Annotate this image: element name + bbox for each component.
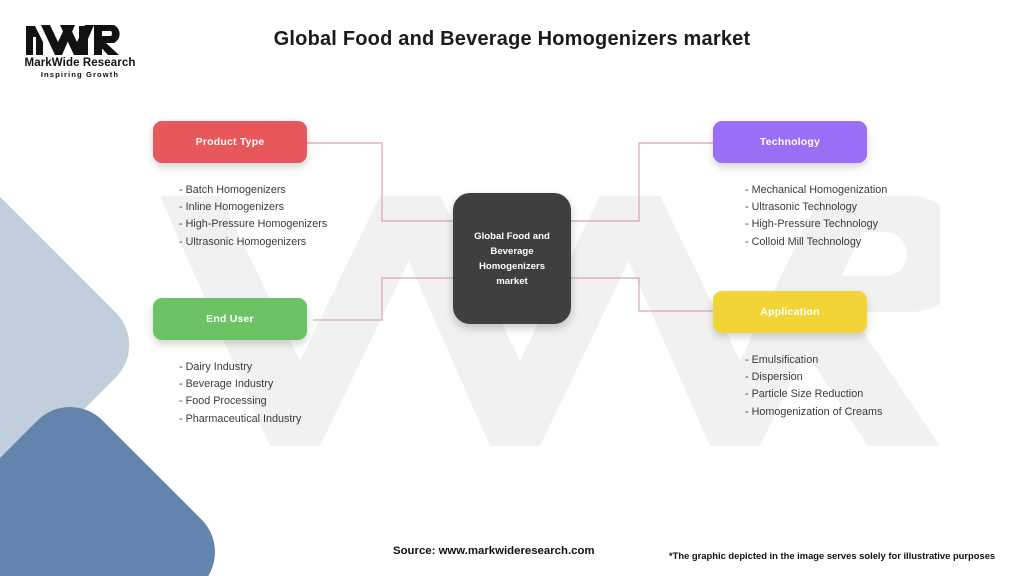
source-text: Source: www.markwideresearch.com — [393, 545, 595, 557]
branch-list-technology: - Mechanical Homogenization - Ultrasonic… — [713, 182, 887, 251]
branch-list-end-user: - Dairy Industry - Beverage Industry - F… — [153, 359, 307, 428]
logo-tagline: Inspiring Growth — [16, 70, 144, 79]
branch-label-end-user: End User — [206, 313, 254, 325]
slide-canvas: MarkWide Research Inspiring Growth Globa… — [0, 0, 1024, 576]
branch-header-technology[interactable]: Technology — [713, 121, 867, 163]
branch-list-product-type: - Batch Homogenizers - Inline Homogenize… — [153, 182, 327, 251]
branch-end-user: End User - Dairy Industry - Beverage Ind… — [153, 298, 307, 428]
list-item: - Mechanical Homogenization — [745, 182, 887, 199]
connector-technology — [571, 143, 713, 221]
list-item: - Batch Homogenizers — [179, 182, 327, 199]
disclaimer-text: *The graphic depicted in the image serve… — [669, 550, 995, 561]
connector-product-type — [307, 143, 453, 221]
branch-list-application: - Emulsification - Dispersion - Particle… — [713, 352, 882, 421]
branch-label-product-type: Product Type — [196, 136, 265, 148]
logo-company-name: MarkWide Research — [16, 57, 144, 69]
list-item: - Pharmaceutical Industry — [179, 411, 307, 428]
branch-application: Application - Emulsification - Dispersio… — [713, 291, 882, 421]
list-item: - Inline Homogenizers — [179, 199, 327, 216]
list-item: - Dairy Industry — [179, 359, 307, 376]
branch-label-technology: Technology — [760, 136, 820, 148]
list-item: - Ultrasonic Homogenizers — [179, 234, 327, 251]
list-item: - Food Processing — [179, 393, 307, 410]
list-item: - Ultrasonic Technology — [745, 199, 887, 216]
branch-product-type: Product Type - Batch Homogenizers - Inli… — [153, 121, 327, 251]
branch-label-application: Application — [760, 306, 819, 318]
list-item: - High-Pressure Homogenizers — [179, 216, 327, 233]
branch-header-end-user[interactable]: End User — [153, 298, 307, 340]
connector-end-user — [313, 278, 453, 320]
connector-application — [571, 278, 713, 311]
branch-header-application[interactable]: Application — [713, 291, 867, 333]
center-node: Global Food and Beverage Homogenizers ma… — [453, 193, 571, 324]
branch-technology: Technology - Mechanical Homogenization -… — [713, 121, 887, 251]
list-item: - Beverage Industry — [179, 376, 307, 393]
list-item: - High-Pressure Technology — [745, 216, 887, 233]
center-node-label: Global Food and Beverage Homogenizers ma… — [453, 229, 571, 289]
list-item: - Emulsification — [745, 352, 882, 369]
page-title: Global Food and Beverage Homogenizers ma… — [0, 28, 1024, 51]
list-item: - Particle Size Reduction — [745, 386, 882, 403]
list-item: - Colloid Mill Technology — [745, 234, 887, 251]
branch-header-product-type[interactable]: Product Type — [153, 121, 307, 163]
list-item: - Dispersion — [745, 369, 882, 386]
list-item: - Homogenization of Creams — [745, 404, 882, 421]
